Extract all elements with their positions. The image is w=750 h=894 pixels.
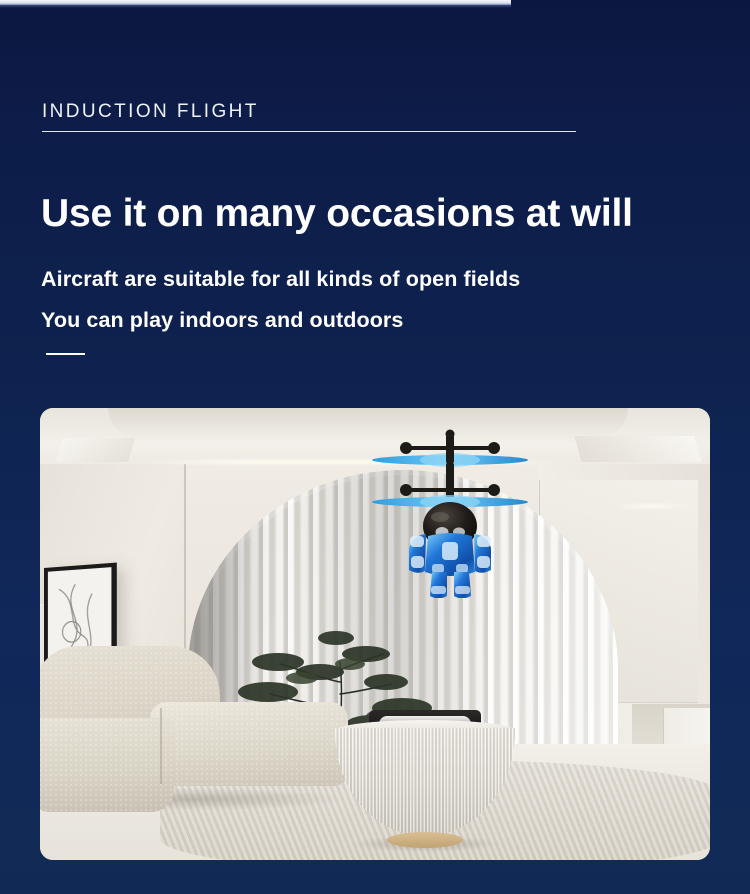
short-dash-divider <box>46 353 85 355</box>
hero-photo <box>40 408 710 860</box>
dome-coffee-table <box>335 710 515 850</box>
top-highlight-strip-shadow <box>0 5 511 8</box>
promo-page: INDUCTION FLIGHT Use it on many occasion… <box>0 0 750 894</box>
page-title: Use it on many occasions at will <box>41 190 633 238</box>
boucle-sofa <box>40 646 354 836</box>
induction-flying-astronaut-toy <box>350 418 550 598</box>
subtitle-line-1: Aircraft are suitable for all kinds of o… <box>41 264 520 294</box>
hero-photo-scene <box>40 408 710 860</box>
sofa-seat-right <box>150 702 348 786</box>
cove-light-glow-right <box>608 504 696 508</box>
eyebrow-block: INDUCTION FLIGHT <box>42 99 576 132</box>
subtitle-line-2: You can play indoors and outdoors <box>41 305 403 335</box>
table-wood-base <box>387 832 463 848</box>
sofa-seat-left <box>40 718 174 812</box>
table-dome-body <box>335 728 515 836</box>
eyebrow-rule <box>42 131 576 132</box>
eyebrow-label: INDUCTION FLIGHT <box>42 99 576 125</box>
sofa-seam <box>160 708 162 784</box>
